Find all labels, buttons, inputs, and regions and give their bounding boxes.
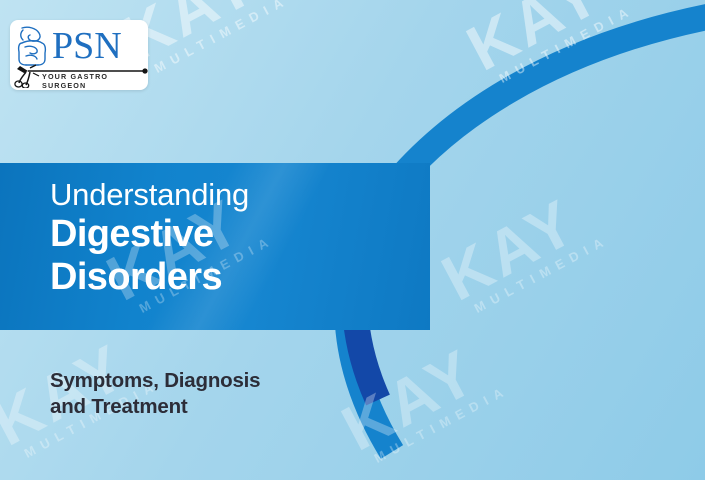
mouth bbox=[518, 142, 550, 149]
eye-right bbox=[542, 98, 562, 106]
headline-line-1: Understanding bbox=[50, 176, 380, 213]
nose bbox=[524, 104, 542, 128]
subheadline-line-1: Symptoms, Diagnosis bbox=[50, 368, 380, 394]
subheadline-line-2: and Treatment bbox=[50, 394, 380, 420]
mustache bbox=[504, 128, 564, 140]
brand-logo[interactable]: PSN YOUR GASTRO SURGEON bbox=[10, 20, 148, 90]
hair bbox=[478, 28, 590, 90]
eye-left bbox=[502, 98, 522, 106]
subheadline: Symptoms, Diagnosis and Treatment bbox=[50, 368, 380, 420]
banner: KAY MULTIMEDIA KAY MULTIMEDIA KAY MULTIM… bbox=[0, 0, 705, 480]
headline: Understanding Digestive Disorders bbox=[50, 176, 380, 299]
logo-wordmark: PSN bbox=[52, 25, 122, 67]
headline-line-3: Disorders bbox=[50, 256, 380, 299]
logo-bottom-row: YOUR GASTRO SURGEON bbox=[16, 68, 142, 87]
headline-line-2: Digestive bbox=[50, 213, 380, 256]
logo-tagline: YOUR GASTRO SURGEON bbox=[42, 72, 142, 90]
